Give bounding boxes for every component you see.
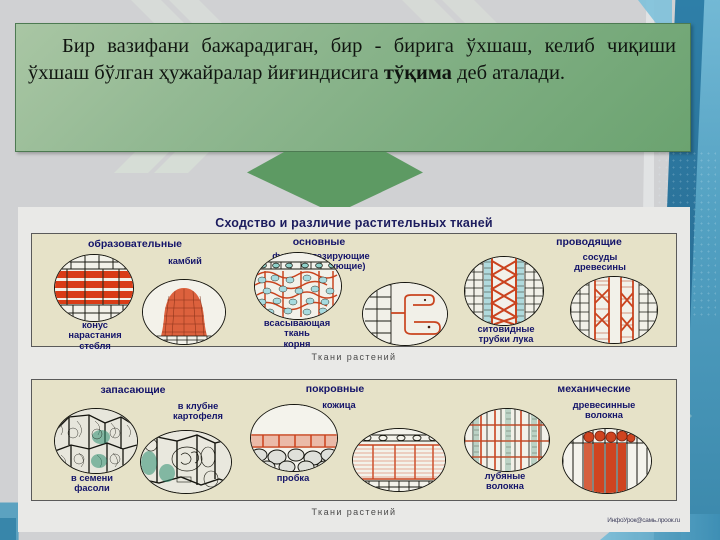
micrograph-drevesinnye-volokna [562, 428, 652, 494]
micrograph-fotosinteziruyushchie [362, 282, 448, 346]
definition-text-tail: деб аталади. [452, 62, 565, 84]
micrograph-kambiy [142, 279, 226, 345]
caption-bottom: Ткани растений [18, 507, 690, 517]
micrograph-sosudy-drevesiny [570, 276, 658, 344]
panel-bottom: запасающие в клубне картофеля [31, 379, 677, 501]
label-osnovnye: основные [254, 237, 384, 249]
label-vsasyvayushchaya-tkan-kornya: всасывающая ткань корня [240, 318, 354, 349]
label-sitovidnye-trubki-luka: ситовидные трубки лука [450, 324, 562, 345]
micrograph-v-semeni-fasoli [54, 408, 138, 474]
diagram-title: Сходство и различие растительных тканей [18, 216, 690, 230]
label-lubyanye-volokna: лубяные волокна [450, 471, 560, 492]
label-probka: пробка [250, 473, 336, 483]
label-obrazovatelnye: образовательные [50, 239, 220, 251]
label-v-semeni-fasoli: в семени фасоли [40, 473, 144, 494]
definition-bold-term: тўқима [384, 62, 452, 84]
label-provodyashchie: проводящие [524, 237, 654, 249]
definition-text-lead: Бир вазифани бажарадиган, бир - бирига ў… [28, 35, 676, 84]
label-zapasayushchie: запасающие [58, 385, 208, 397]
micrograph-sitovidnye-trubki [464, 256, 544, 326]
micrograph-konus-narastaniya [54, 254, 134, 322]
label-v-klubne-kartofelya: в клубне картофеля [142, 401, 254, 422]
background-blue-bottom-left-accent [0, 518, 16, 540]
micrograph-lubyanye-volokna [464, 408, 550, 472]
micrograph-probka [250, 404, 338, 472]
definition-box: Бир вазифани бажарадиган, бир - бирига ў… [15, 23, 691, 152]
diagram-card: Сходство и различие растительных тканей … [18, 207, 690, 532]
label-kambiy: камбий [140, 256, 230, 266]
label-mekhanicheskie: механические [524, 384, 664, 396]
caption-top: Ткани растений [18, 352, 690, 362]
label-pokrovnye: покровные [270, 384, 400, 396]
label-drevesinnye-volokna: древесинные волокна [538, 400, 670, 421]
label-konus-narastaniya-steblya: конус нарастания стебля [40, 320, 150, 351]
definition-text: Бир вазифани бажарадиган, бир - бирига ў… [16, 24, 690, 88]
label-sosudy-drevesiny: сосуды древесины [540, 252, 660, 273]
footer-watermark: ИнфоУрок@самь.лроок.ru [607, 517, 680, 524]
micrograph-kozhitsa [352, 428, 446, 492]
panel-top: образовательные камбий [31, 233, 677, 347]
micrograph-v-klubne-kartofelya [140, 430, 232, 494]
micrograph-vsasyvayushchaya-tkan [254, 252, 342, 320]
